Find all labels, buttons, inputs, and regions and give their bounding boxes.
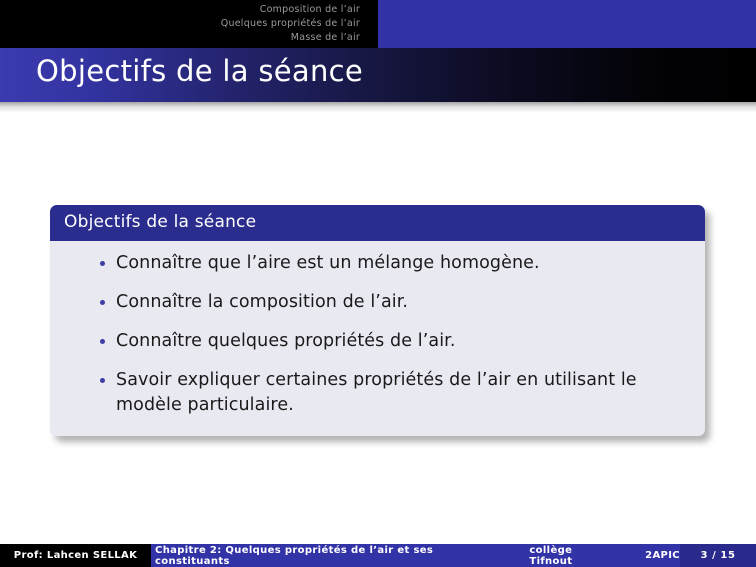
presentation-slide: Composition de l’air Quelques propriétés…: [0, 0, 756, 567]
slide-title-bar: Objectifs de la séance: [0, 48, 756, 102]
list-item-text: Connaître que l’aire est un mélange homo…: [116, 253, 540, 273]
nav-item-masse[interactable]: Masse de l’air: [0, 31, 360, 45]
bullet-icon: [100, 261, 105, 266]
bullet-icon: [100, 378, 105, 383]
block-title: Objectifs de la séance: [50, 205, 705, 241]
list-item-text: Connaître la composition de l’air.: [116, 292, 408, 312]
footer-author: Prof: Lahcen SELLAK: [0, 544, 151, 567]
list-item-text: Savoir expliquer certaines propriétés de…: [116, 370, 637, 415]
bullet-icon: [100, 339, 105, 344]
navigation-bar: Composition de l’air Quelques propriétés…: [0, 0, 756, 48]
footer-class: 2APIC: [645, 550, 680, 561]
footer-chapter: Chapitre 2: Quelques propriétés de l’air…: [155, 545, 496, 567]
list-item: Connaître que l’aire est un mélange homo…: [66, 251, 689, 276]
list-item: Connaître la composition de l’air.: [66, 290, 689, 315]
objectives-block: Objectifs de la séance Connaître que l’a…: [50, 205, 705, 436]
bullet-icon: [100, 300, 105, 305]
block-body: Connaître que l’aire est un mélange homo…: [50, 241, 705, 436]
slide-title: Objectifs de la séance: [36, 54, 363, 88]
list-item: Savoir expliquer certaines propriétés de…: [66, 368, 689, 418]
navigation-progress-blue: [378, 0, 756, 48]
navigation-section-list: Composition de l’air Quelques propriétés…: [0, 3, 360, 45]
objectives-list: Connaître que l’aire est un mélange homo…: [66, 251, 689, 418]
title-bar-shadow: [0, 102, 756, 113]
slide-footer: Prof: Lahcen SELLAK Chapitre 2: Quelques…: [0, 544, 756, 567]
nav-item-proprietes[interactable]: Quelques propriétés de l’air: [0, 17, 360, 31]
footer-page-number: 3 / 15: [680, 544, 756, 567]
footer-info: Chapitre 2: Quelques propriétés de l’air…: [151, 544, 680, 567]
list-item: Connaître quelques propriétés de l’air.: [66, 329, 689, 354]
footer-school: collège Tifnout: [529, 545, 615, 567]
nav-item-composition[interactable]: Composition de l’air: [0, 3, 360, 17]
list-item-text: Connaître quelques propriétés de l’air.: [116, 331, 456, 351]
